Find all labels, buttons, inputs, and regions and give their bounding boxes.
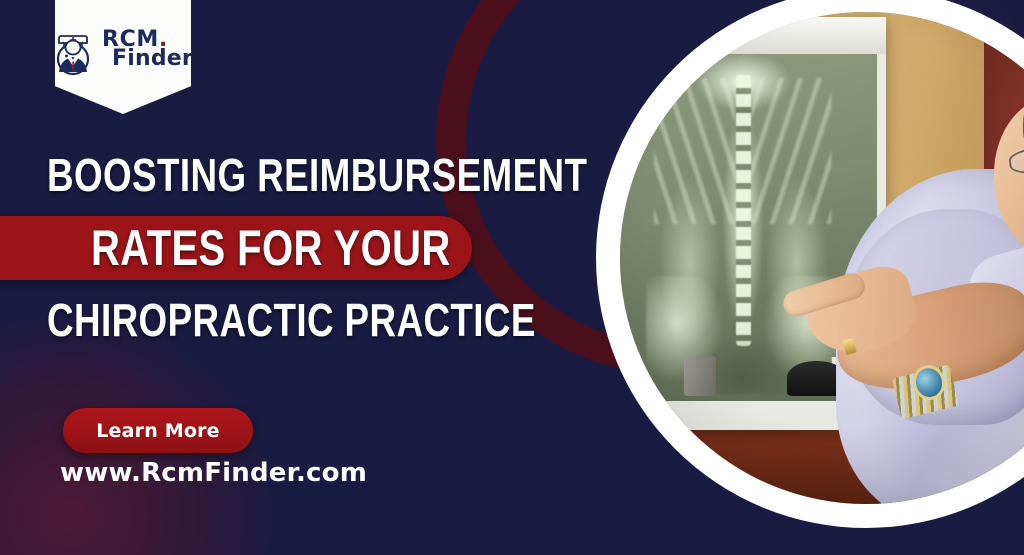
headline-line-3: CHIROPRACTIC PRACTICE: [47, 297, 536, 343]
headline-line-2: RATES FOR YOUR: [91, 223, 451, 273]
learn-more-label: Learn More: [96, 420, 220, 442]
lightbox-top-trim: [620, 17, 886, 54]
doctor-avatar-icon: [53, 24, 99, 76]
brand-wordmark: RCM. Finder: [102, 31, 193, 69]
headline-line-1: BOOSTING REIMBURSEMENT: [47, 152, 463, 198]
hero-photo-scene: [620, 12, 1024, 504]
desk-object-cup: [684, 356, 716, 395]
website-url[interactable]: www.RcmFinder.com: [60, 458, 367, 488]
promo-banner: RCM. Finder BOOSTING REIMBURSEMENT RATES…: [0, 0, 1024, 555]
brand-logo-badge[interactable]: RCM. Finder: [55, 0, 191, 114]
brand-logo-inner: RCM. Finder: [53, 24, 193, 76]
learn-more-button[interactable]: Learn More: [63, 408, 253, 453]
headline-highlight-bar: RATES FOR YOUR: [0, 216, 472, 280]
xray-ribs-left: [654, 78, 734, 224]
xray-ribs-right: [751, 78, 831, 224]
headline-block: BOOSTING REIMBURSEMENT RATES FOR YOUR CH…: [47, 152, 567, 198]
xray-clip-icon: [620, 83, 632, 100]
headline-line-3-wrap: CHIROPRACTIC PRACTICE: [47, 297, 658, 343]
brand-finder: Finder: [112, 50, 193, 69]
hero-photo: [620, 12, 1024, 504]
